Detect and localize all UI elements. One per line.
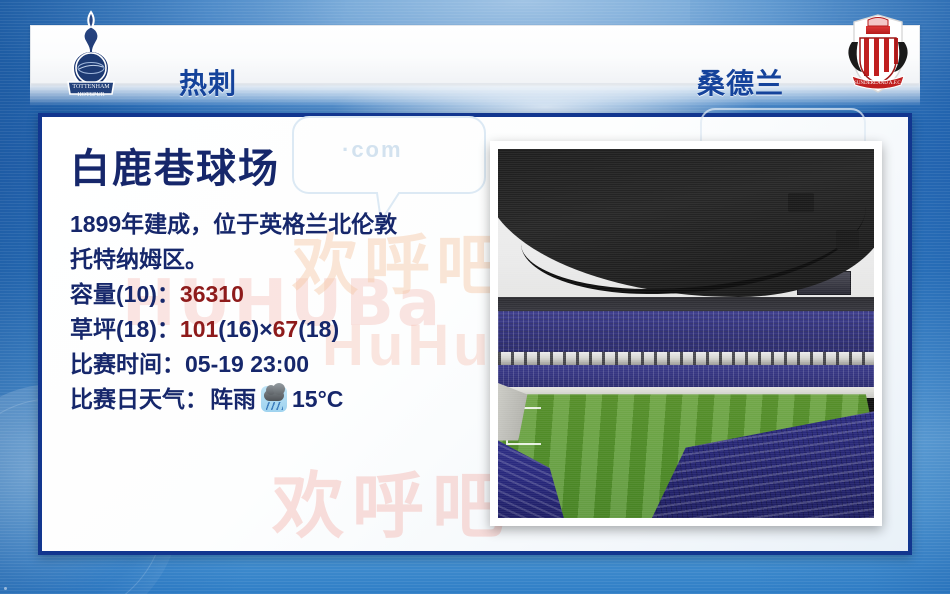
stadium-info-text: 白鹿巷球场 1899年建成，位于英格兰北伦敦 托特纳姆区。 容量(10)：363… <box>70 149 500 417</box>
pitch-width-value: 67 <box>273 316 299 342</box>
pitch-size-row: 草坪(18)：101(16)×67(18) <box>70 312 500 347</box>
stadium-photo-frame <box>490 141 882 526</box>
crest-banner-bottom: HOTSPUR <box>77 92 104 98</box>
capacity-row: 容量(10)：36310 <box>70 277 500 312</box>
corner-pixel-artifact <box>4 587 7 590</box>
match-weather-row: 比赛日天气：阵雨 15°C <box>70 382 500 417</box>
pitch-length-value: 101 <box>180 316 218 342</box>
capacity-label: 容量(10)： <box>70 281 180 307</box>
capacity-value: 36310 <box>180 281 244 307</box>
match-weather-label: 比赛日天气： <box>70 382 208 417</box>
brand-watermark-cn-bottom: 欢呼吧 <box>272 447 512 552</box>
stadium-title: 白鹿巷球场 <box>70 149 500 189</box>
away-team-name: 桑德兰 <box>697 62 784 102</box>
home-team-name: 热刺 <box>179 62 237 102</box>
rain-shower-icon <box>261 386 287 412</box>
pitch-width-note: (18) <box>298 316 339 342</box>
match-time-row: 比赛时间：05-19 23:00 <box>70 347 500 382</box>
stadium-description-line-1: 1899年建成，位于英格兰北伦敦 <box>70 207 500 242</box>
tottenham-hotspur-crest-icon: TOTTENHAM HOTSPUR <box>62 8 120 103</box>
match-header-bar: 热刺 桑德兰 <box>30 25 920 84</box>
crest-banner-top: TOTTENHAM <box>72 84 110 90</box>
sunderland-afc-crest-icon: SUNDERLAND A.F.C. <box>842 12 914 96</box>
pitch-length-note: (16) <box>218 316 259 342</box>
match-time-value: 05-19 23:00 <box>185 351 309 377</box>
match-temperature: 15°C <box>292 382 343 417</box>
header-underglow <box>30 84 920 106</box>
crest-banner-text: SUNDERLAND A.F.C. <box>854 81 902 86</box>
stadium-description-line-2: 托特纳姆区。 <box>70 242 500 277</box>
stadium-info-card: 热刺 桑德兰 TOTTENHAM HOTSPUR <box>0 0 950 594</box>
photo-grain-overlay <box>498 149 874 518</box>
pitch-label: 草坪(18)： <box>70 316 180 342</box>
match-weather-text: 阵雨 <box>210 382 256 417</box>
match-time-label: 比赛时间： <box>70 351 185 377</box>
pitch-size-separator: × <box>259 316 272 342</box>
stadium-photo <box>498 149 874 518</box>
info-panel: ·com HUHUBa 欢呼吧 HuHuBa 欢呼吧 白鹿巷球场 1899年建成… <box>38 113 912 555</box>
